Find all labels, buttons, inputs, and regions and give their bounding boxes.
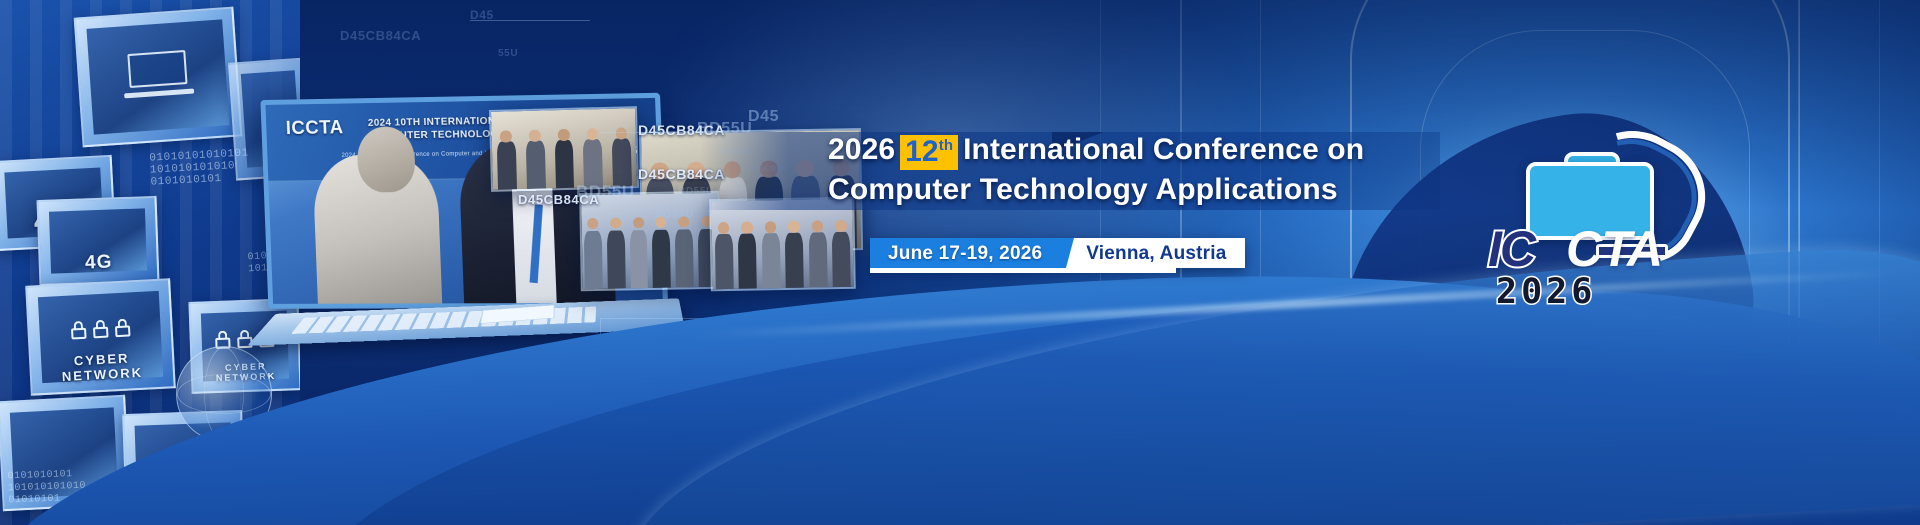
padlock-icons: [70, 318, 130, 339]
logo-acronym-dark: IC: [1488, 220, 1534, 278]
iccta-logo-text: IC CTA: [1478, 218, 1738, 274]
lock-icon: [114, 318, 130, 337]
logo-year: 2026: [1496, 272, 1596, 312]
group-photo-card-4: [709, 197, 856, 292]
iccta-logo: IC CTA 2026: [1478, 136, 1748, 316]
title-line-2: Computer Technology Applications: [828, 170, 1448, 210]
conference-date: June 17-19, 2026: [870, 238, 1058, 268]
date-location-divider: [1058, 238, 1084, 268]
collage-label-cyber-network: CYBER NETWORK: [31, 348, 173, 385]
title-line-1-suffix: International Conference on: [963, 133, 1364, 166]
hud-code-q: EG55U: [655, 208, 694, 220]
hud-line-2: [470, 20, 590, 21]
collage-label-4g-b: 4G: [40, 250, 157, 276]
date-location-bar: June 17-19, 2026 Vienna, Austria: [870, 238, 1245, 268]
collage-tile-laptop: [74, 7, 243, 148]
ordinal-suffix: th: [939, 137, 953, 154]
ordinal-badge: 12th: [900, 135, 958, 170]
hud-code-d: D45CB84CA: [340, 28, 421, 43]
conference-banner: 4G 4G CYBER NETWORK CYBER NETWORK: [0, 0, 1920, 525]
logo-acronym-light: CTA: [1566, 220, 1662, 278]
lock-icon: [92, 319, 108, 338]
ordinal-number: 12: [905, 135, 939, 168]
title-year: 2026: [828, 133, 895, 166]
stage-event-logo: ICCTA: [285, 117, 344, 140]
collage-tile-4g-b: 4G: [37, 196, 160, 286]
binary-stream-1: 01010101010101 101010101010 0101010101: [149, 147, 250, 188]
lock-icon: [70, 320, 86, 339]
hud-code-p: 55U: [498, 48, 518, 59]
title-block: 202612thInternational Conference on Comp…: [828, 130, 1448, 210]
group-photo-card-1: [489, 106, 639, 192]
date-bar-underline: [870, 268, 1176, 273]
hud-code-k: D45: [748, 108, 779, 126]
hud-code-h: BD55U: [576, 182, 635, 202]
collage-tile-cyber-network: CYBER NETWORK: [25, 278, 176, 395]
laptop-icon: [121, 50, 194, 99]
conference-location: Vienna, Austria: [1084, 238, 1244, 268]
title-line-1: 202612thInternational Conference on: [828, 130, 1448, 170]
